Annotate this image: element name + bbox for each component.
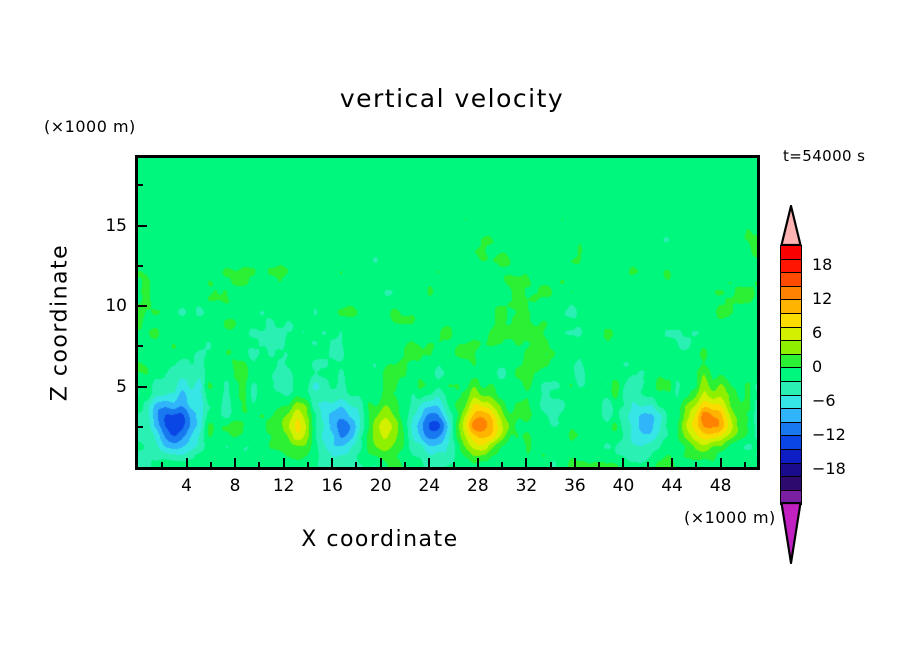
x-tick-minor — [453, 462, 455, 467]
colorbar-tick-label: 6 — [812, 323, 822, 342]
x-tick-minor — [258, 462, 260, 467]
colorbar-tick-label: 12 — [812, 289, 832, 308]
x-tick-major — [720, 458, 722, 467]
colorbar-tick-label: 18 — [812, 255, 832, 274]
page-title: vertical velocity — [0, 84, 904, 113]
x-tick-major — [477, 458, 479, 467]
x-tick-minor — [695, 462, 697, 467]
x-tick-major — [186, 458, 188, 467]
x-tick-label: 20 — [361, 476, 401, 496]
timestamp-label: t=54000 s — [783, 147, 865, 165]
x-tick-minor — [355, 462, 357, 467]
y-axis-units-label: (×1000 m) — [44, 117, 136, 136]
x-tick-minor — [647, 462, 649, 467]
x-tick-major — [428, 458, 430, 467]
y-tick-label: 15 — [93, 216, 127, 236]
x-tick-label: 48 — [701, 476, 741, 496]
x-tick-label: 12 — [264, 476, 304, 496]
x-tick-major — [671, 458, 673, 467]
x-tick-minor — [161, 462, 163, 467]
x-tick-major — [525, 458, 527, 467]
x-tick-label: 36 — [555, 476, 595, 496]
x-tick-major — [331, 458, 333, 467]
y-tick-label: 10 — [93, 296, 127, 316]
y-tick-major — [138, 225, 147, 227]
colorbar-over-arrow — [780, 205, 802, 246]
x-tick-major — [380, 458, 382, 467]
y-axis-title: Z coordinate — [48, 203, 73, 443]
colorbar-under-arrow — [780, 502, 802, 564]
x-tick-major — [574, 458, 576, 467]
x-tick-major — [234, 458, 236, 467]
x-tick-label: 28 — [458, 476, 498, 496]
x-axis-title: X coordinate — [0, 527, 760, 552]
x-tick-label: 4 — [167, 476, 207, 496]
y-tick-major — [138, 305, 147, 307]
x-tick-label: 24 — [409, 476, 449, 496]
x-tick-minor — [598, 462, 600, 467]
x-tick-label: 40 — [603, 476, 643, 496]
x-tick-minor — [550, 462, 552, 467]
x-tick-major — [622, 458, 624, 467]
colorbar-tick-label: −18 — [812, 459, 846, 478]
x-tick-minor — [307, 462, 309, 467]
x-tick-minor — [404, 462, 406, 467]
x-tick-minor — [210, 462, 212, 467]
y-tick-minor — [138, 184, 143, 186]
y-tick-minor — [138, 345, 143, 347]
colorbar-tick-label: −6 — [812, 391, 836, 410]
y-tick-minor — [138, 426, 143, 428]
contour-plot-area — [135, 155, 760, 470]
x-tick-minor — [501, 462, 503, 467]
vertical-velocity-field — [138, 158, 757, 467]
y-tick-major — [138, 386, 147, 388]
x-axis-units-label: (×1000 m) — [684, 508, 776, 527]
x-tick-label: 32 — [506, 476, 546, 496]
colorbar-tick-label: −12 — [812, 425, 846, 444]
colorbar-tick-label: 0 — [812, 357, 822, 376]
x-tick-label: 8 — [215, 476, 255, 496]
y-tick-label: 5 — [93, 377, 127, 397]
x-tick-minor — [744, 462, 746, 467]
x-tick-major — [283, 458, 285, 467]
x-tick-label: 16 — [312, 476, 352, 496]
y-tick-minor — [138, 265, 143, 267]
x-tick-label: 44 — [652, 476, 692, 496]
